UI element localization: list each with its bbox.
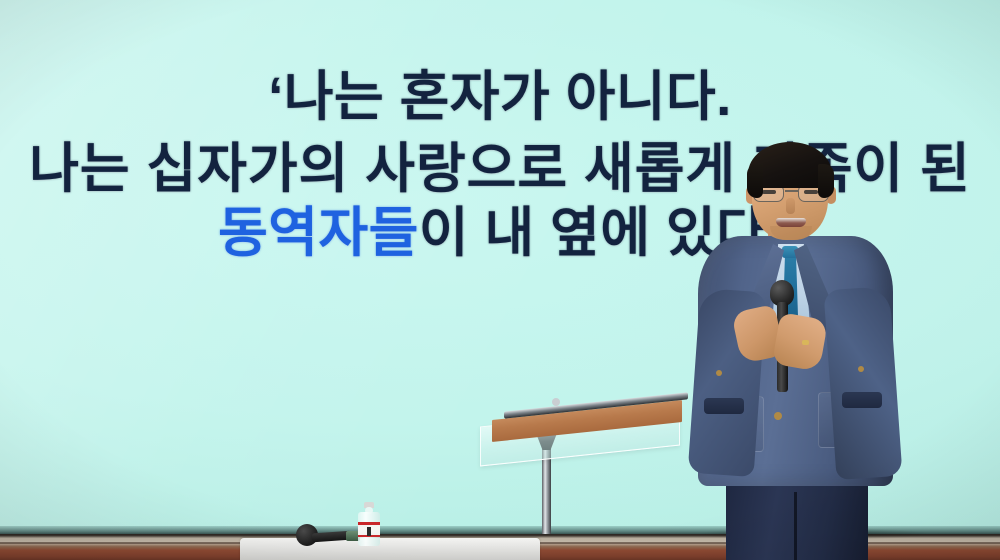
table-microphone [296, 530, 354, 546]
photo-canvas: ‘나는 혼자가 아니다. 나는 십자가의 사랑으로 새롭게 가족이 된 동역자들… [0, 0, 1000, 560]
speaker-trouser-split [794, 492, 797, 560]
speaker-hair-side-right [818, 164, 834, 198]
front-table [240, 538, 540, 560]
speaker [690, 140, 950, 560]
bottle-label [358, 522, 380, 537]
speaker-arm-right [823, 286, 902, 480]
glasses-bridge [785, 190, 798, 192]
speaker-sleeve-button-right [858, 366, 864, 372]
slide-line-1: ‘나는 혼자가 아니다. [0, 70, 1000, 124]
speaker-cuff-left [704, 398, 744, 414]
speaker-jacket-button [774, 412, 782, 420]
speaker-ring [802, 340, 809, 345]
lectern-knob [552, 398, 560, 406]
speaker-hair-side-left [747, 164, 763, 198]
speaker-mouth [776, 218, 806, 227]
speaker-cuff-right [842, 392, 882, 408]
lectern [480, 404, 710, 534]
speaker-sleeve-button-left [716, 370, 722, 376]
slide-line-3-highlight: 동역자들 [218, 203, 419, 263]
water-bottle [358, 502, 380, 546]
